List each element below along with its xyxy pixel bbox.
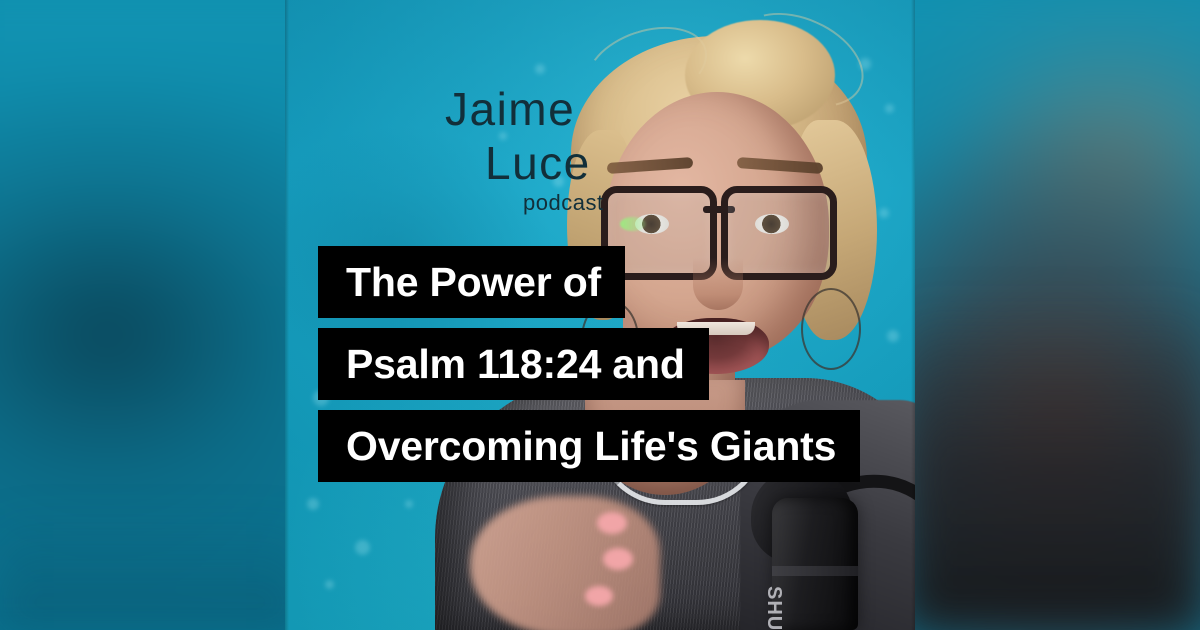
photo-edge-right bbox=[911, 0, 915, 630]
lens-glint bbox=[620, 217, 646, 231]
title-row: Overcoming Life's Giants bbox=[318, 410, 860, 482]
episode-title: The Power of Psalm 118:24 and Overcoming… bbox=[318, 246, 860, 482]
fingernail bbox=[597, 512, 627, 534]
photo-edge-left bbox=[285, 0, 289, 630]
fingernail bbox=[585, 586, 613, 606]
microphone-brand-label: SHURE bbox=[762, 586, 785, 630]
title-line-3: Overcoming Life's Giants bbox=[318, 410, 860, 482]
cover-art-canvas: SHURE Jaime Luce podcast The Power of Ps… bbox=[0, 0, 1200, 630]
title-row: The Power of bbox=[318, 246, 860, 318]
fingernail bbox=[603, 548, 633, 570]
microphone-ring bbox=[772, 566, 858, 576]
backdrop-dark-left-vignette bbox=[0, 510, 300, 630]
title-line-1: The Power of bbox=[318, 246, 625, 318]
title-line-2: Psalm 118:24 and bbox=[318, 328, 709, 400]
backdrop-dark-right-vignette bbox=[905, 300, 1200, 630]
title-row: Psalm 118:24 and bbox=[318, 328, 860, 400]
